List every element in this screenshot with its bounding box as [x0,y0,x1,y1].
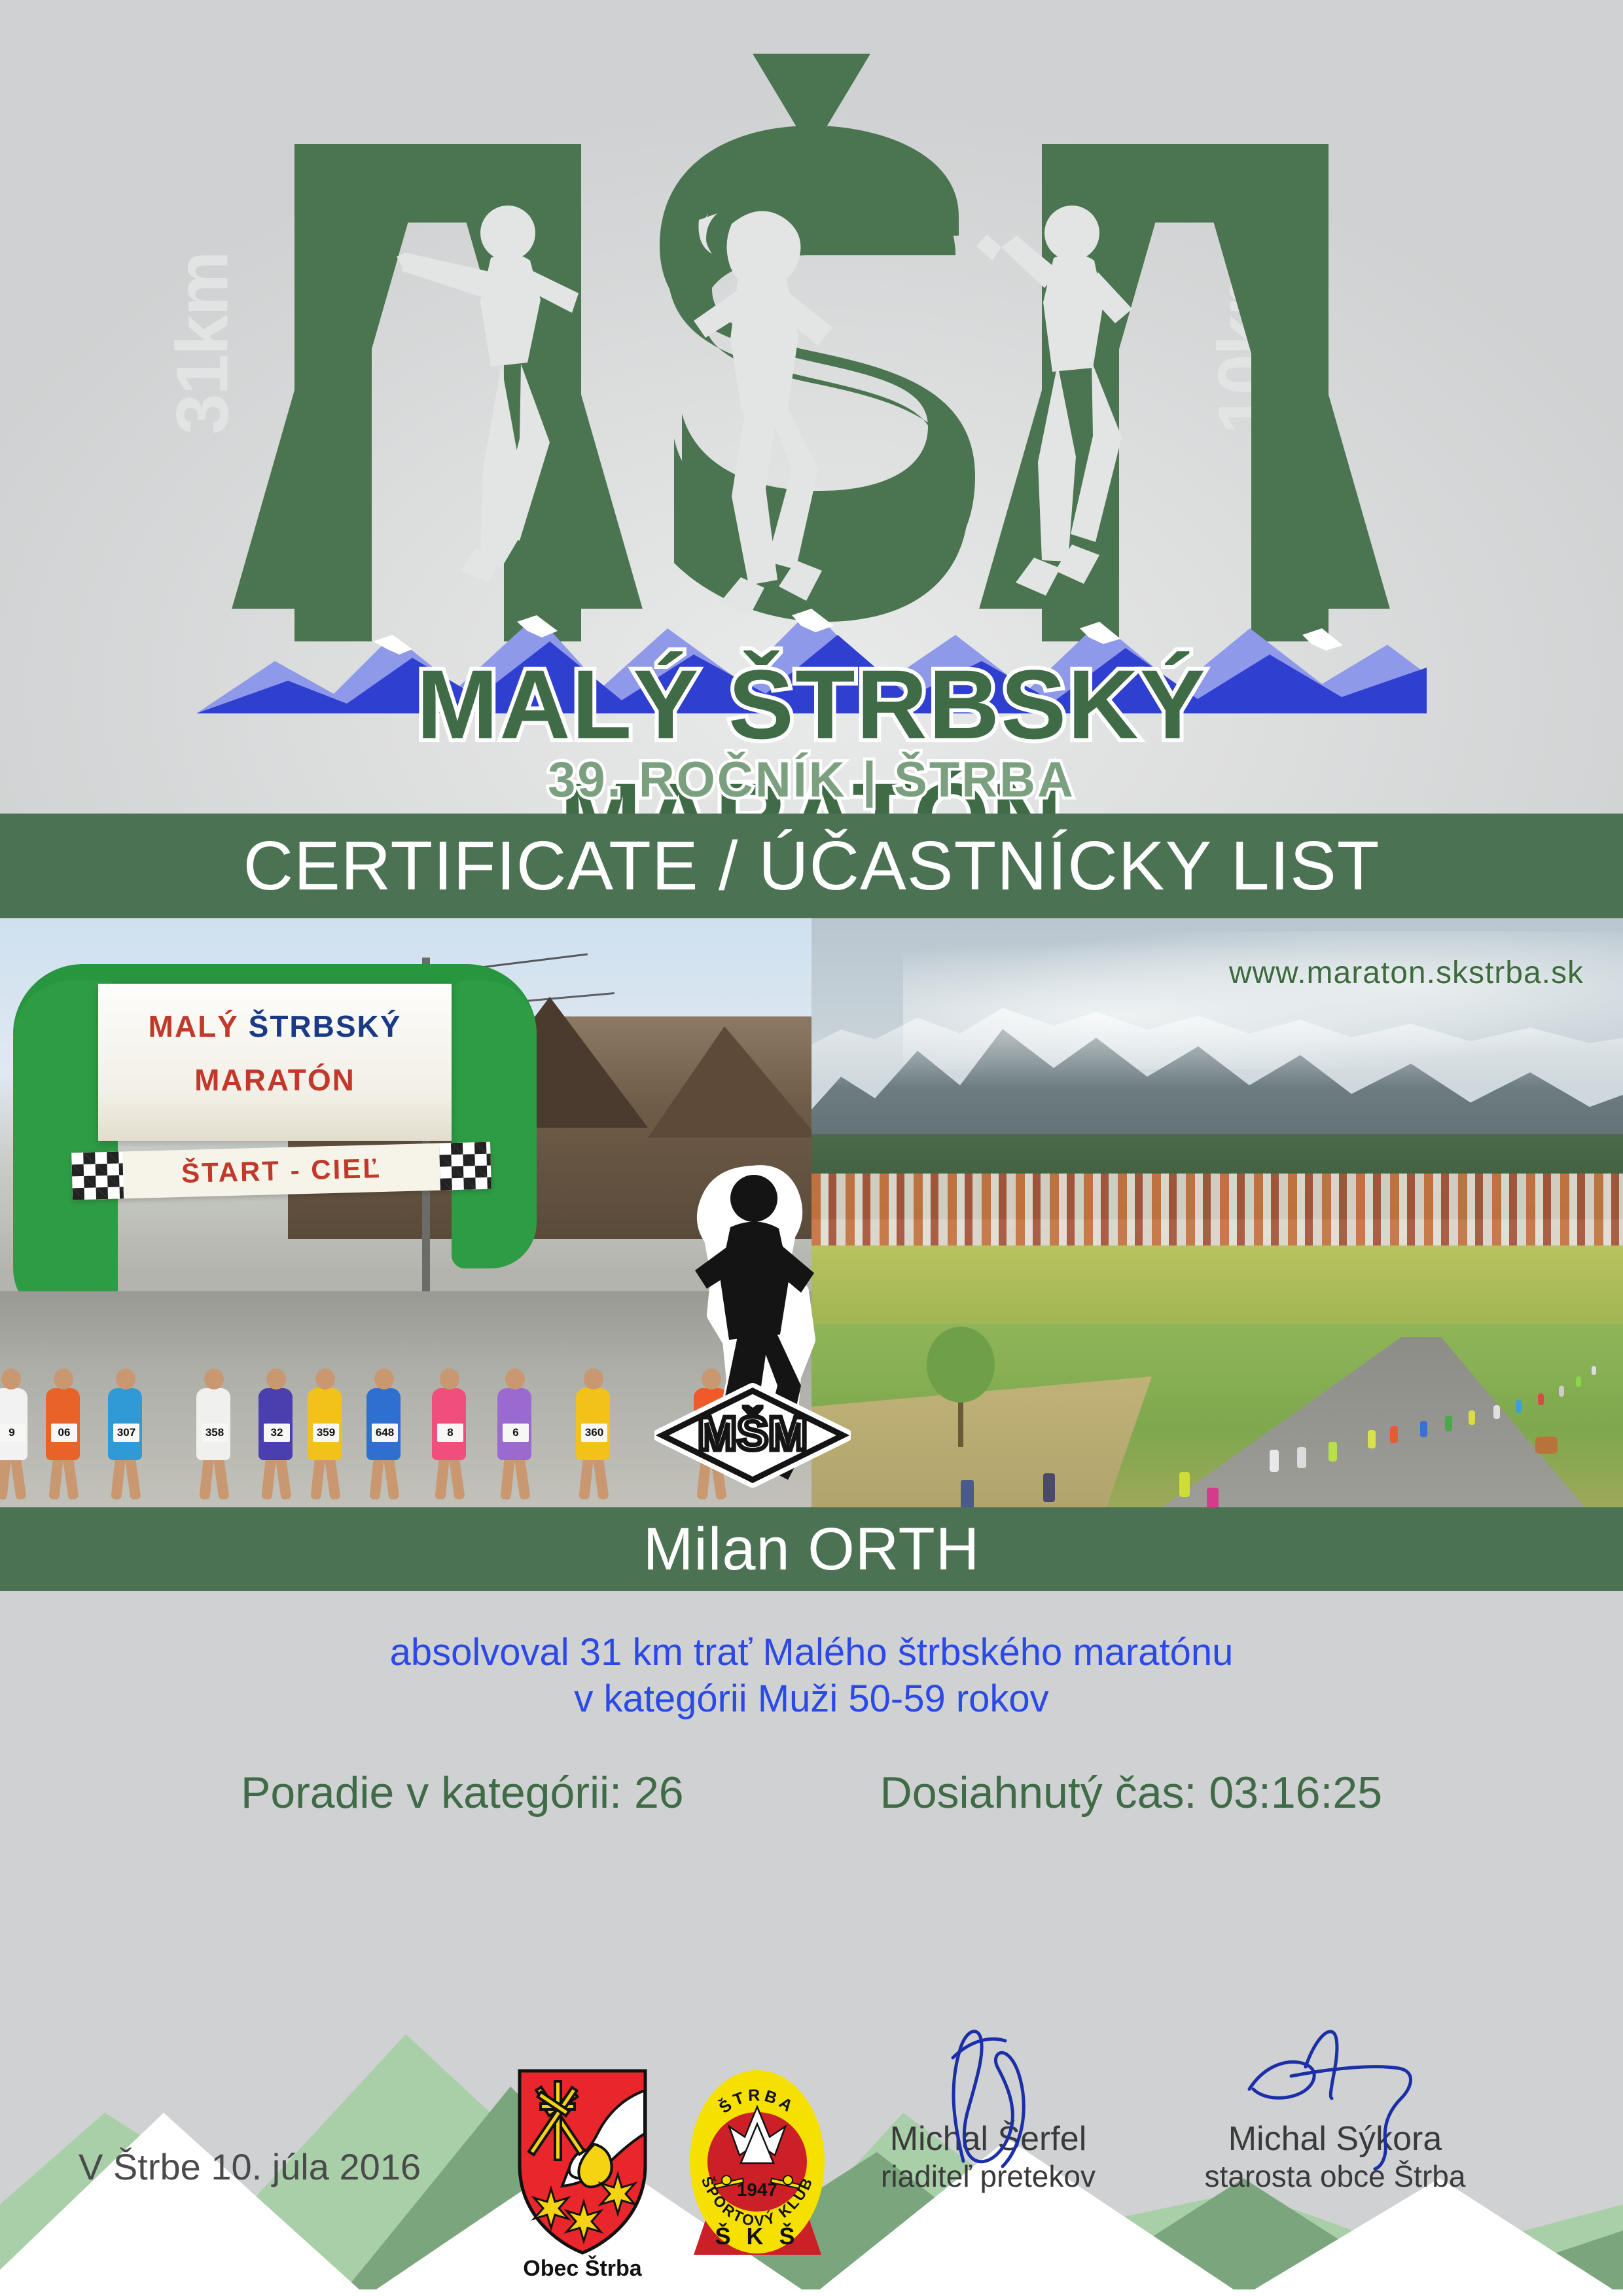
participant-name: Milan ORTH [643,1515,980,1584]
bib-number: 8 [437,1424,463,1442]
signature-mark-icon [1227,2021,1443,2172]
bib-number: 06 [51,1424,77,1442]
description-line-1: absolvoval 31 km trať Malého štrbského m… [0,1630,1623,1676]
event-logo: 31km 10km [0,0,1623,792]
bib-number: 360 [581,1424,607,1442]
club-initials: Š K Š [715,2222,799,2250]
club-year: 1947 [737,2179,777,2200]
crest-caption: Obec Štrba [510,2256,654,2282]
finish-time-label: Dosiahnutý čas: [880,1768,1197,1818]
certificate-title-band: CERTIFICATE / ÚČASTNÍCKY LIST [0,814,1623,918]
certificate-title: CERTIFICATE / ÚČASTNÍCKY LIST [243,827,1380,906]
bib-number: 6 [503,1424,529,1442]
arch-word-maly: MALÝ [149,1009,239,1043]
finish-time: Dosiahnutý čas: 03:16:25 [880,1767,1382,1818]
results-row: Poradie v kategórii: 26 Dosiahnutý čas: … [0,1767,1623,1818]
signature-mark-icon [890,2021,1086,2172]
category-rank-label: Poradie v kategórii: [241,1768,622,1818]
finish-time-value: 03:16:25 [1209,1768,1382,1818]
runner-silhouette-right [962,183,1185,655]
bib-number: 648 [372,1424,398,1442]
bib-number: 307 [113,1424,139,1442]
sub-wordmark: 39. ROČNÍK | ŠTRBA [196,751,1427,808]
msm-letterforms [196,105,1427,641]
participant-name-band: Milan ORTH [0,1507,1623,1591]
msm-runner-badge-icon: MŠM [654,1160,851,1488]
tatra-landscape-photo: www.maraton.skstrba.sk [811,918,1623,1507]
start-finish-text: ŠTART - CIEĽ [181,1153,382,1189]
issue-date: V Štrbe 10. júla 2016 [79,2145,421,2188]
crest-shield-icon [510,2067,654,2257]
arch-word-maraton: MARATÓN [194,1063,355,1097]
signature-block-race-director: Michal Šerfel riaditeľ pretekov [851,2119,1126,2194]
bib-number: 32 [264,1424,290,1442]
website-url[interactable]: www.maraton.skstrba.sk [1229,955,1584,991]
bib-number: 358 [202,1424,228,1442]
certificate-footer: V Štrbe 10. júla 2016 [0,2060,1623,2296]
msm-badge-label: MŠM [698,1407,808,1460]
category-rank-value: 26 [634,1768,684,1818]
runner-silhouette-center [654,196,890,655]
description-line-2: v kategórii Muži 50-59 rokov [0,1676,1623,1723]
photo-strip: MALÝ ŠTRBSKÝ MARATÓN ŠTART - CIEĽ 9 06 3… [0,918,1623,1507]
bib-number: 359 [313,1424,339,1442]
obec-strba-crest: Obec Štrba [510,2067,654,2283]
arch-word-strbsky: ŠTRBSKÝ [249,1009,402,1043]
runner-silhouette-left [393,190,609,648]
start-arch-banner: MALÝ ŠTRBSKÝ MARATÓN [98,984,452,1141]
signature-block-mayor: Michal Sýkora starosta obce Štrba [1198,2119,1472,2194]
achievement-description: absolvoval 31 km trať Malého štrbského m… [0,1630,1623,1723]
bib-number: 9 [0,1424,25,1442]
certificate-page: 31km 10km [0,0,1623,2296]
roadside-tree-icon [923,1324,1001,1448]
sks-club-logo: 1947 ŠTRBA ŠPORTOVÝ KLUB Š K Š [687,2064,828,2260]
category-rank: Poradie v kategórii: 26 [241,1767,684,1818]
